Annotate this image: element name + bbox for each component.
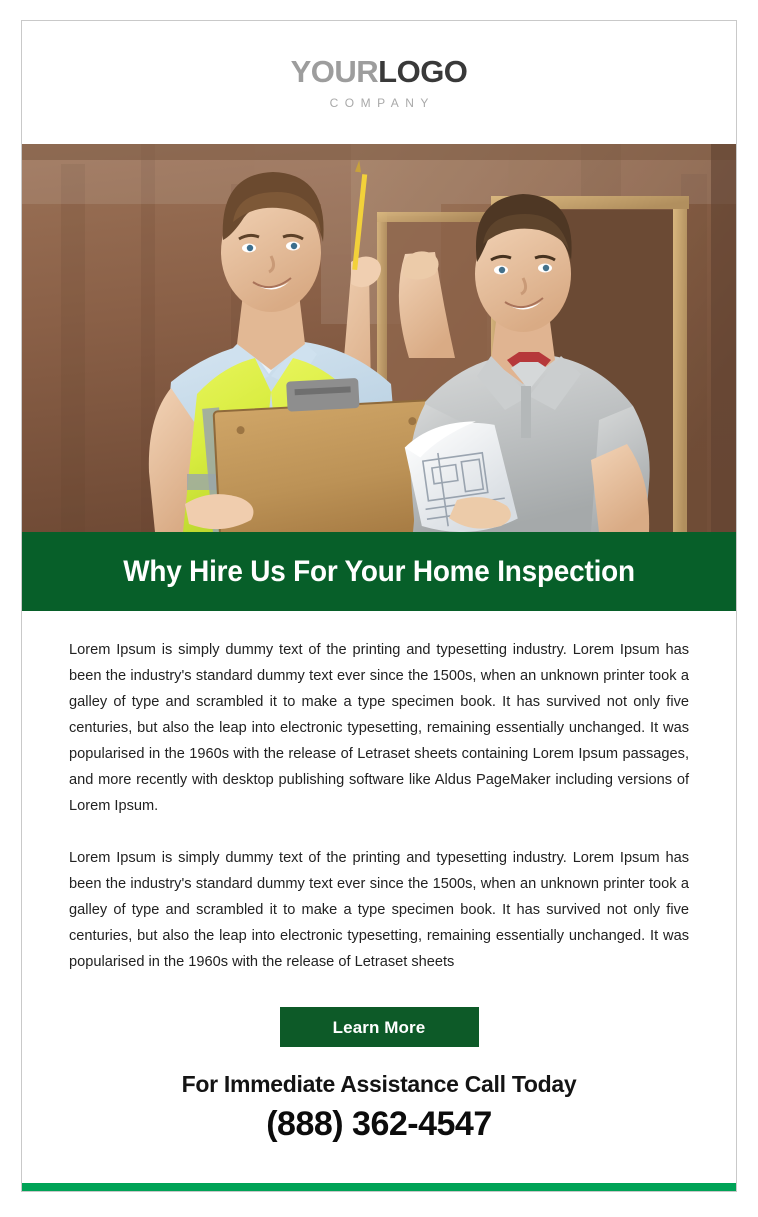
logo-text-primary: YOUR [291, 54, 379, 89]
section-banner: Why Hire Us For Your Home Inspection [22, 532, 736, 611]
footer-spacer [22, 1147, 736, 1183]
learn-more-button[interactable]: Learn More [280, 1007, 479, 1047]
body-paragraph-1: Lorem Ipsum is simply dummy text of the … [69, 611, 689, 819]
cta-button-wrapper: Learn More [69, 975, 689, 1047]
call-to-action-block: For Immediate Assistance Call Today (888… [69, 1047, 689, 1147]
logo-text-secondary: LOGO [378, 54, 467, 89]
body-paragraph-2: Lorem Ipsum is simply dummy text of the … [69, 819, 689, 975]
assistance-headline: For Immediate Assistance Call Today [69, 1069, 689, 1099]
logo-wordmark: YOURLOGO [291, 56, 468, 87]
email-newsletter-page: YOURLOGO COMPANY [21, 20, 737, 1192]
company-logo[interactable]: YOURLOGO COMPANY [291, 56, 468, 109]
hero-photo [22, 144, 736, 532]
hero-photo-illustration [22, 144, 736, 532]
phone-number[interactable]: (888) 362-4547 [69, 1099, 689, 1147]
banner-title: Why Hire Us For Your Home Inspection [123, 555, 635, 589]
page-header: YOURLOGO COMPANY [22, 21, 736, 144]
body-content: Lorem Ipsum is simply dummy text of the … [22, 611, 736, 1147]
footer-accent-bar [22, 1183, 736, 1192]
logo-subtitle: COMPANY [291, 97, 468, 109]
